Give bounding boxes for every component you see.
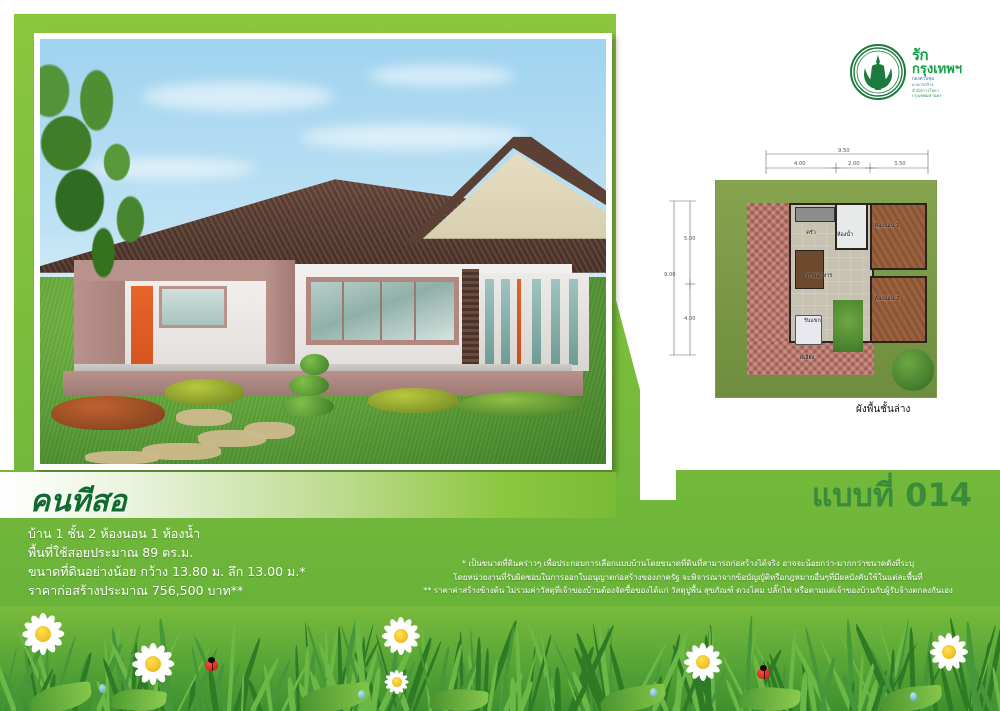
- daisy-flower: [680, 639, 726, 685]
- grass-blade: [227, 623, 237, 711]
- shrub: [51, 396, 164, 430]
- dim-seg-2: 2.00: [848, 161, 860, 167]
- floor-plan-drawing: ครัว ห้องน้ำ ห้องนอน 1 ทานอาหาร ห้องนอน …: [715, 180, 937, 398]
- daisy-flower: [382, 667, 412, 697]
- plan-room-label-porch: เฉลียง: [800, 354, 815, 362]
- stepping-stone: [244, 422, 295, 439]
- stepping-stone: [176, 409, 233, 426]
- dim-seg-1: 4.00: [794, 161, 806, 167]
- plan-courtyard: [833, 300, 864, 352]
- dim-depth-seg-1: 5.00: [684, 236, 696, 242]
- wood-slat-screen: [462, 269, 479, 375]
- dim-depth-seg-2: 4.00: [684, 316, 696, 322]
- logo-wordmark: รัก กรุงเทพฯ กองควบคุม อาคารสร้าง สำนักก…: [912, 48, 980, 98]
- small-window: [159, 286, 227, 329]
- dew-drop: [358, 690, 365, 699]
- floor-plan-caption: ผังพื้นชั้นล่าง: [856, 402, 910, 417]
- floor-plan-left-dimensions: 9.00 5.00 4.00: [666, 198, 700, 358]
- logo-rak-text: รัก: [912, 48, 980, 63]
- dew-drop: [650, 688, 657, 697]
- daisy-center: [35, 626, 51, 642]
- dew-drop: [99, 684, 106, 693]
- shrub: [368, 388, 459, 414]
- grass-blade: [554, 666, 561, 711]
- daisy-flower: [926, 629, 972, 675]
- spec-item: ขนาดที่ดินอย่างน้อย กว้าง 13.80 ม. ลึก 1…: [28, 562, 448, 581]
- plan-room-label-dining: ทานอาหาร: [806, 272, 832, 280]
- dim-seg-3: 3.50: [894, 161, 906, 167]
- plan-room-label-bedroom-1: ห้องนอน 1: [874, 222, 899, 230]
- daisy-flower: [128, 639, 178, 689]
- side-wing: [476, 273, 589, 371]
- left-white-strip: [0, 0, 14, 470]
- footnote-line: * เป็นขนาดที่ดินคร่าวๆ เพื่อประกอบการเลื…: [388, 557, 988, 571]
- plan-bedroom-2-area: [870, 276, 927, 343]
- plan-room-label-bathroom: ห้องน้ำ: [837, 231, 853, 239]
- grass-blade: [487, 660, 499, 711]
- floor-plan-top-dimensions: 9.50 4.00 2.00 3.50: [764, 148, 930, 178]
- bangkok-seal-icon: [850, 44, 906, 100]
- stepping-stone: [85, 451, 159, 464]
- bangkok-logo: รัก กรุงเทพฯ กองควบคุม อาคารสร้าง สำนักก…: [850, 42, 980, 104]
- dim-total-depth: 9.00: [664, 272, 676, 278]
- spec-item: พื้นที่ใช้สอยประมาณ 89 ตร.ม.: [28, 543, 448, 562]
- footnote-line: ** ราคาค่าสร้างข้างต้น ไม่รวมค่าวัสดุที่…: [388, 584, 988, 598]
- topiary-shrub: [289, 375, 329, 396]
- foreground-tree: [40, 48, 198, 286]
- house-spec-list: บ้าน 1 ชั้น 2 ห้องนอน 1 ห้องน้ำ พื้นที่ใ…: [28, 524, 448, 600]
- dew-drop: [910, 692, 917, 701]
- footnotes: * เป็นขนาดที่ดินคร่าวๆ เพื่อประกอบการเลื…: [388, 557, 988, 598]
- plan-tree-icon: [892, 349, 934, 390]
- spec-item: บ้าน 1 ชั้น 2 ห้องนอน 1 ห้องน้ำ: [28, 524, 448, 543]
- plan-room-label-living: รับแขก: [804, 317, 821, 325]
- plan-room-label-bedroom-2: ห้องนอน 2: [874, 295, 899, 303]
- logo-krungthep-text: กรุงเทพฯ: [912, 63, 980, 77]
- shrub: [459, 392, 584, 418]
- model-number: แบบที่ 014: [812, 470, 972, 521]
- middle-column: [266, 260, 294, 379]
- front-door: [131, 286, 154, 371]
- house-photo-frame: [34, 33, 612, 470]
- footnote-line: โดยหน่วยงานที่รับผิดชอบในการออกใบอนุญาตก…: [388, 571, 988, 585]
- house-name: คนทีสอ: [30, 478, 127, 525]
- grass-decoration-strip: [0, 606, 1000, 711]
- logo-subline-4: กรุงเทพมหานคร: [912, 93, 980, 98]
- house-photo: [40, 39, 606, 464]
- ladybug-icon: [205, 660, 218, 671]
- floor-plan-block: 9.50 4.00 2.00 3.50 9.00 5.00 4.00: [660, 140, 990, 435]
- daisy-center: [145, 656, 161, 672]
- shrub: [165, 379, 244, 405]
- daisy-flower: [18, 609, 68, 659]
- plan-bathroom-area: [835, 203, 868, 251]
- dim-total-width: 9.50: [838, 148, 850, 154]
- plan-bedroom-1-area: [870, 203, 927, 270]
- topiary-shrub: [300, 354, 328, 375]
- picture-window: [306, 277, 459, 345]
- spec-item: ราคาก่อสร้างประมาณ 756,500 บาท**: [28, 581, 448, 600]
- daisy-center: [392, 677, 402, 687]
- plan-room-label-kitchen: ครัว: [806, 229, 816, 237]
- daisy-flower: [378, 613, 424, 659]
- ladybug-icon: [757, 668, 770, 679]
- page-background: รัก กรุงเทพฯ กองควบคุม อาคารสร้าง สำนักก…: [0, 0, 1000, 711]
